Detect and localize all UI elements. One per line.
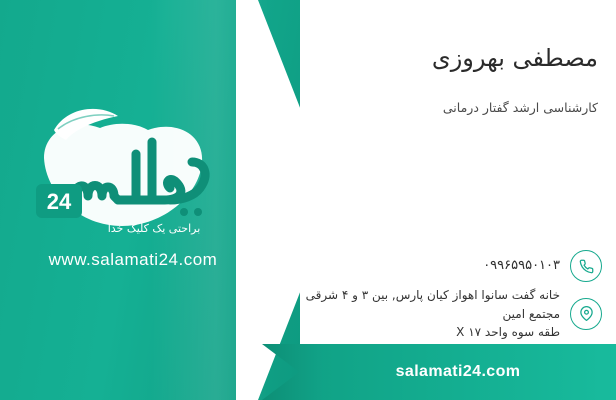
address-line-2: طقه سوه واحد ۱۷ X xyxy=(305,323,560,342)
person-title: کارشناسی ارشد گفتار درمانی xyxy=(443,100,598,115)
brand-website-left[interactable]: www.salamati24.com xyxy=(18,250,248,270)
logo-tagline-text: براحتی یک کلیک خدا xyxy=(108,222,201,235)
address-text: خانه گفت سانوا اهواز کیان پارس, بین ۳ و … xyxy=(305,286,560,342)
address-line-1: خانه گفت سانوا اهواز کیان پارس, بین ۳ و … xyxy=(305,286,560,323)
location-pin-icon xyxy=(570,298,602,330)
person-name: مصطفی بهروزی xyxy=(432,44,598,72)
brand-logo: 24 براحتی یک کلیک خدا xyxy=(14,96,254,236)
footer-website[interactable]: salamati24.com xyxy=(300,344,616,400)
card-details: مصطفی بهروزی کارشناسی ارشد گفتار درمانی … xyxy=(300,0,616,400)
contact-row-address: خانه گفت سانوا اهواز کیان پارس, بین ۳ و … xyxy=(305,286,602,342)
business-card: 24 براحتی یک کلیک خدا www.salamati24.com… xyxy=(0,0,616,400)
logo-badge: 24 xyxy=(36,184,82,218)
logo-badge-text: 24 xyxy=(47,189,72,214)
logo-wordmark-dots xyxy=(180,208,202,216)
phone-number[interactable]: ۰۹۹۶۵۹۵۰۱۰۳ xyxy=(483,256,560,276)
phone-icon xyxy=(570,250,602,282)
contact-row-phone: ۰۹۹۶۵۹۵۰۱۰۳ xyxy=(483,250,602,282)
